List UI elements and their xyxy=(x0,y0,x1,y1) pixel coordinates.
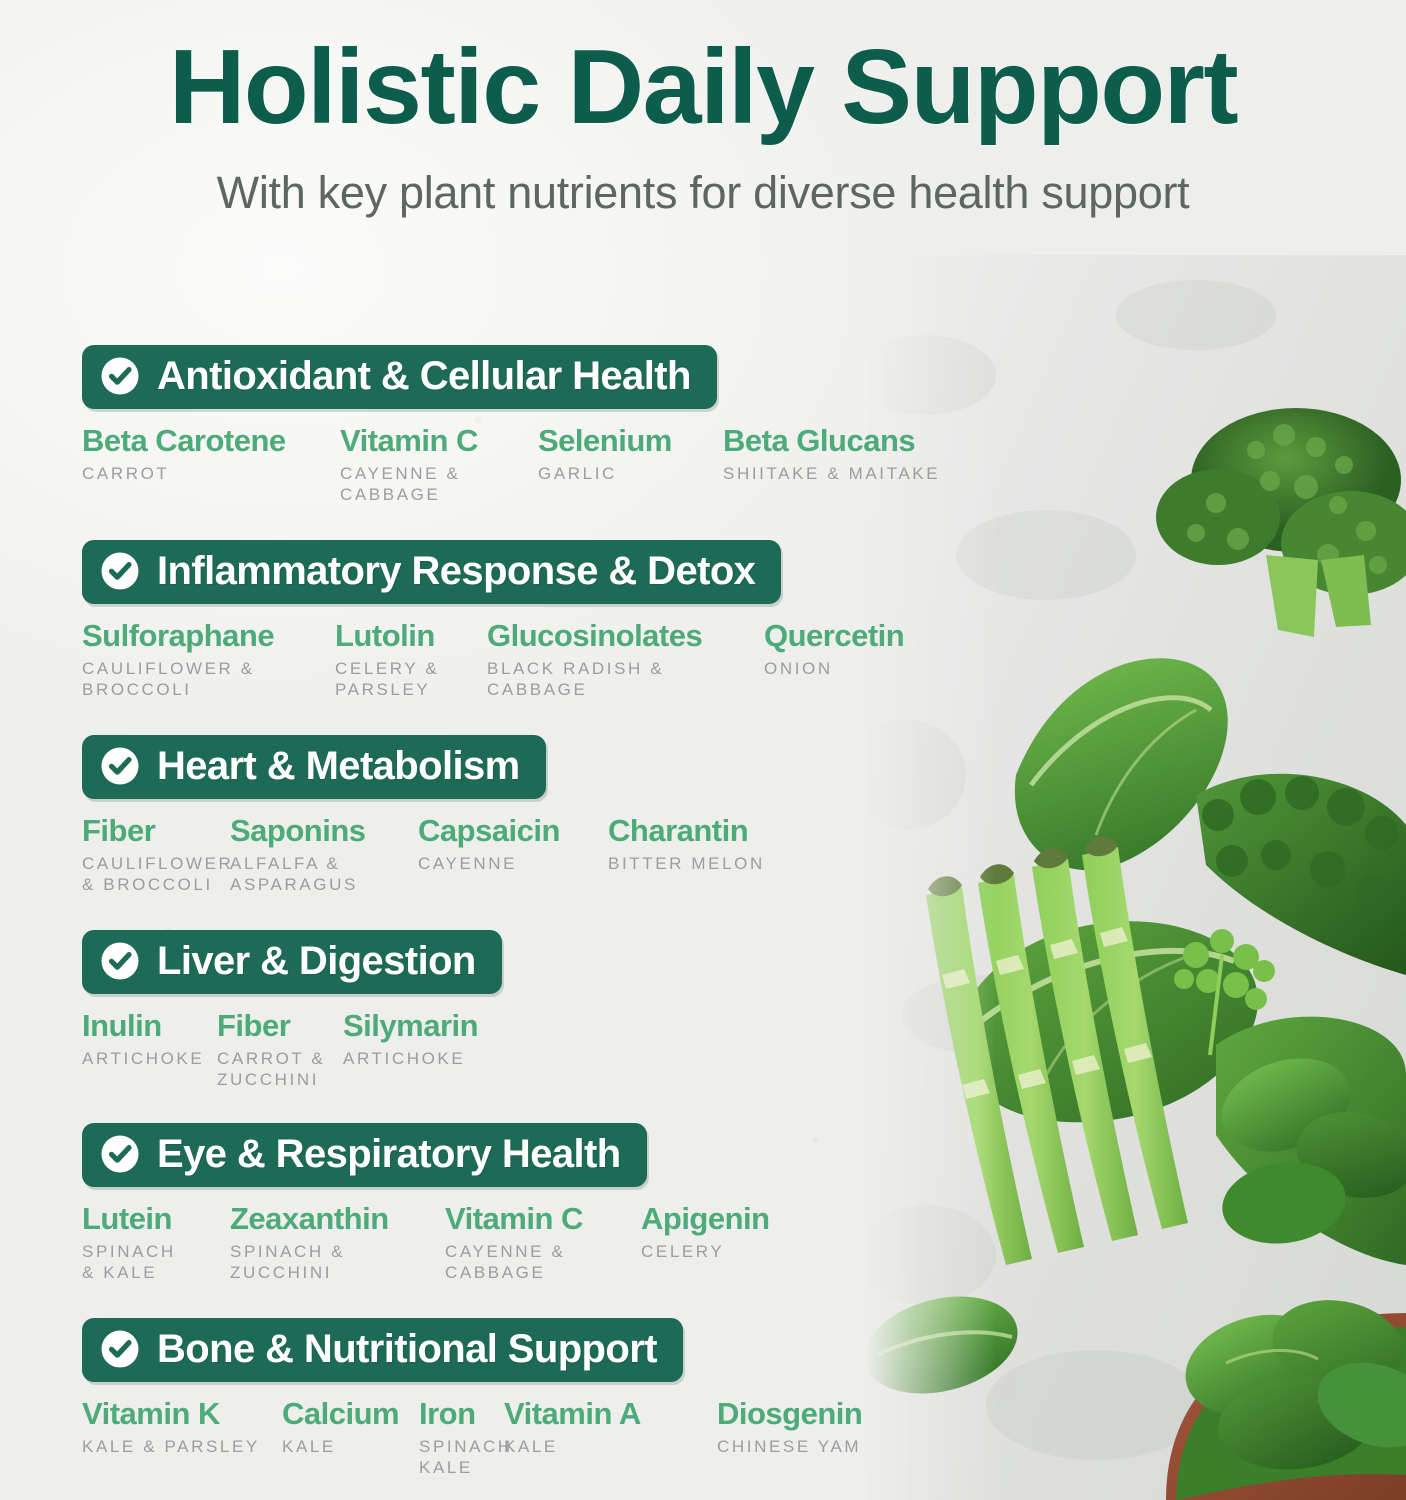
nutrient-item: GlucosinolatesBLACK RADISH & CABBAGE xyxy=(487,620,764,701)
nutrient-item: Vitamin KKALE & PARSLEY xyxy=(82,1398,282,1479)
nutrient-source: SPINACH & ZUCCHINI xyxy=(230,1241,445,1284)
nutrient-name: Iron xyxy=(419,1398,504,1429)
section-badge-label: Liver & Digestion xyxy=(157,941,476,981)
nutrient-source: CELERY & PARSLEY xyxy=(335,658,487,701)
nutrient-item: Vitamin AKALE xyxy=(504,1398,717,1479)
nutrient-item: CapsaicinCAYENNE xyxy=(418,815,608,896)
nutrient-source: CARROT & ZUCCHINI xyxy=(217,1048,343,1091)
nutrient-name: Vitamin A xyxy=(504,1398,717,1429)
nutrient-source: ONION xyxy=(764,658,944,679)
check-circle-icon xyxy=(100,746,140,786)
nutrient-name: Saponins xyxy=(230,815,418,846)
section-badge-label: Antioxidant & Cellular Health xyxy=(157,356,691,396)
nutrient-item: FiberCAULIFLOWER & BROCCOLI xyxy=(82,815,230,896)
nutrient-name: Apigenin xyxy=(641,1203,821,1234)
nutrient-source: BLACK RADISH & CABBAGE xyxy=(487,658,764,701)
nutrient-row: InulinARTICHOKEFiberCARROT & ZUCCHINISil… xyxy=(82,1010,523,1091)
nutrient-item: IronSPINACH KALE xyxy=(419,1398,504,1479)
nutrient-source: GARLIC xyxy=(538,463,723,484)
nutrient-name: Capsaicin xyxy=(418,815,608,846)
nutrient-item: SulforaphaneCAULIFLOWER & BROCCOLI xyxy=(82,620,335,701)
nutrient-source: CAYENNE & CABBAGE xyxy=(445,1241,641,1284)
nutrient-name: Beta Carotene xyxy=(82,425,340,456)
nutrient-name: Fiber xyxy=(82,815,230,846)
nutrient-name: Vitamin C xyxy=(340,425,538,456)
nutrient-source: CAULIFLOWER & BROCCOLI xyxy=(82,658,335,701)
nutrient-source: KALE xyxy=(282,1436,419,1457)
nutrient-name: Glucosinolates xyxy=(487,620,764,651)
nutrient-source: SPINACH & KALE xyxy=(82,1241,230,1284)
nutrient-row: Vitamin KKALE & PARSLEYCalciumKALEIronSP… xyxy=(82,1398,907,1479)
nutrient-name: Lutein xyxy=(82,1203,230,1234)
nutrient-source: CAYENNE & CABBAGE xyxy=(340,463,538,506)
nutrient-row: FiberCAULIFLOWER & BROCCOLISaponinsALFAL… xyxy=(82,815,798,896)
nutrient-item: Vitamin CCAYENNE & CABBAGE xyxy=(340,425,538,506)
nutrient-name: Quercetin xyxy=(764,620,944,651)
section-inflammatory-response-detox: Inflammatory Response & DetoxSulforaphan… xyxy=(82,540,944,701)
section-badge-label: Inflammatory Response & Detox xyxy=(157,551,755,591)
nutrient-source: BITTER MELON xyxy=(608,853,798,874)
check-circle-icon xyxy=(100,551,140,591)
nutrient-source: ALFALFA & ASPARAGUS xyxy=(230,853,418,896)
nutrient-source: CAYENNE xyxy=(418,853,608,874)
nutrient-item: InulinARTICHOKE xyxy=(82,1010,217,1091)
section-heart-metabolism: Heart & MetabolismFiberCAULIFLOWER & BRO… xyxy=(82,735,798,896)
nutrient-item: ZeaxanthinSPINACH & ZUCCHINI xyxy=(230,1203,445,1284)
nutrient-item: CharantinBITTER MELON xyxy=(608,815,798,896)
nutrient-name: Fiber xyxy=(217,1010,343,1041)
nutrient-item: SaponinsALFALFA & ASPARAGUS xyxy=(230,815,418,896)
nutrient-name: Charantin xyxy=(608,815,798,846)
nutrient-row: Beta CaroteneCARROTVitamin CCAYENNE & CA… xyxy=(82,425,943,506)
check-circle-icon xyxy=(100,1134,140,1174)
nutrient-source: CELERY xyxy=(641,1241,821,1262)
section-liver-digestion: Liver & DigestionInulinARTICHOKEFiberCAR… xyxy=(82,930,523,1091)
section-badge-liver-digestion[interactable]: Liver & Digestion xyxy=(82,930,502,994)
check-circle-icon xyxy=(100,356,140,396)
nutrient-source: CAULIFLOWER & BROCCOLI xyxy=(82,853,230,896)
page-title: Holistic Daily Support xyxy=(0,0,1406,140)
header: Holistic Daily Support With key plant nu… xyxy=(0,0,1406,218)
nutrient-name: Inulin xyxy=(82,1010,217,1041)
nutrient-name: Silymarin xyxy=(343,1010,523,1041)
nutrient-source: SHIITAKE & MAITAKE xyxy=(723,463,943,484)
section-badge-heart-metabolism[interactable]: Heart & Metabolism xyxy=(82,735,546,799)
section-badge-label: Eye & Respiratory Health xyxy=(157,1134,621,1174)
nutrient-source: ARTICHOKE xyxy=(343,1048,523,1069)
section-badge-label: Heart & Metabolism xyxy=(157,746,520,786)
nutrient-item: LuteinSPINACH & KALE xyxy=(82,1203,230,1284)
vegetable-photo xyxy=(866,255,1406,1500)
nutrient-name: Zeaxanthin xyxy=(230,1203,445,1234)
nutrient-name: Vitamin K xyxy=(82,1398,282,1429)
nutrient-source: SPINACH KALE xyxy=(419,1436,504,1479)
nutrient-item: Vitamin CCAYENNE & CABBAGE xyxy=(445,1203,641,1284)
nutrient-source: KALE xyxy=(504,1436,717,1457)
nutrient-item: DiosgeninCHINESE YAM xyxy=(717,1398,907,1479)
nutrient-row: LuteinSPINACH & KALEZeaxanthinSPINACH & … xyxy=(82,1203,821,1284)
check-circle-icon xyxy=(100,1329,140,1369)
section-badge-bone-nutritional-support[interactable]: Bone & Nutritional Support xyxy=(82,1318,683,1382)
nutrient-name: Selenium xyxy=(538,425,723,456)
section-antioxidant-cellular-health: Antioxidant & Cellular HealthBeta Carote… xyxy=(82,345,943,506)
poster-canvas: Holistic Daily Support With key plant nu… xyxy=(0,0,1406,1500)
nutrient-item: Beta CaroteneCARROT xyxy=(82,425,340,506)
nutrient-name: Diosgenin xyxy=(717,1398,907,1429)
nutrient-item: ApigeninCELERY xyxy=(641,1203,821,1284)
nutrient-item: LutolinCELERY & PARSLEY xyxy=(335,620,487,701)
nutrient-source: CARROT xyxy=(82,463,340,484)
nutrient-source: KALE & PARSLEY xyxy=(82,1436,282,1457)
section-badge-inflammatory-response-detox[interactable]: Inflammatory Response & Detox xyxy=(82,540,781,604)
page-subtitle: With key plant nutrients for diverse hea… xyxy=(0,140,1406,218)
nutrient-row: SulforaphaneCAULIFLOWER & BROCCOLILutoli… xyxy=(82,620,944,701)
nutrient-item: QuercetinONION xyxy=(764,620,944,701)
nutrient-item: CalciumKALE xyxy=(282,1398,419,1479)
nutrient-name: Beta Glucans xyxy=(723,425,943,456)
nutrient-name: Vitamin C xyxy=(445,1203,641,1234)
section-badge-antioxidant-cellular-health[interactable]: Antioxidant & Cellular Health xyxy=(82,345,717,409)
nutrient-source: CHINESE YAM xyxy=(717,1436,907,1457)
nutrient-item: SilymarinARTICHOKE xyxy=(343,1010,523,1091)
section-eye-respiratory-health: Eye & Respiratory HealthLuteinSPINACH & … xyxy=(82,1123,821,1284)
section-bone-nutritional-support: Bone & Nutritional SupportVitamin KKALE … xyxy=(82,1318,907,1479)
nutrient-name: Calcium xyxy=(282,1398,419,1429)
nutrient-source: ARTICHOKE xyxy=(82,1048,217,1069)
nutrient-item: SeleniumGARLIC xyxy=(538,425,723,506)
nutrient-item: FiberCARROT & ZUCCHINI xyxy=(217,1010,343,1091)
check-circle-icon xyxy=(100,941,140,981)
nutrient-item: Beta GlucansSHIITAKE & MAITAKE xyxy=(723,425,943,506)
nutrient-name: Sulforaphane xyxy=(82,620,335,651)
section-badge-label: Bone & Nutritional Support xyxy=(157,1329,657,1369)
nutrient-name: Lutolin xyxy=(335,620,487,651)
section-badge-eye-respiratory-health[interactable]: Eye & Respiratory Health xyxy=(82,1123,647,1187)
